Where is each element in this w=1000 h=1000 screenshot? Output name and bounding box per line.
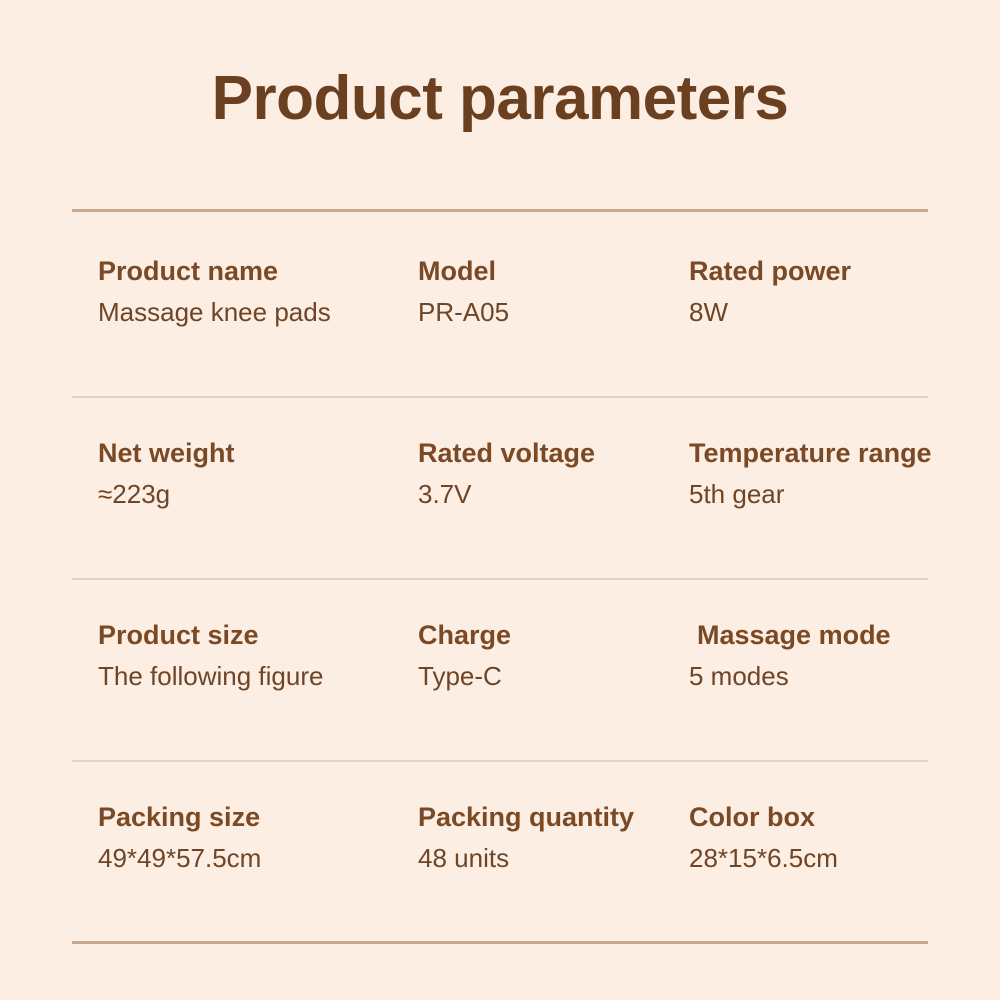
parameter-label: Net weight bbox=[98, 440, 408, 467]
parameter-label: Rated power bbox=[689, 258, 989, 285]
table-row: Product size The following figure Charge… bbox=[0, 622, 1000, 732]
parameter-value: Massage knee pads bbox=[98, 299, 408, 325]
parameter-cell: Packing quantity 48 units bbox=[418, 804, 680, 871]
parameter-label: Color box bbox=[689, 804, 989, 831]
parameter-cell: Packing size 49*49*57.5cm bbox=[98, 804, 408, 871]
parameter-cell: Rated voltage 3.7V bbox=[418, 440, 680, 507]
parameter-value: 49*49*57.5cm bbox=[98, 845, 408, 871]
parameter-value: 48 units bbox=[418, 845, 680, 871]
parameter-label: Rated voltage bbox=[418, 440, 680, 467]
divider-row-2 bbox=[72, 578, 928, 580]
parameter-label: Model bbox=[418, 258, 680, 285]
parameter-cell: Color box 28*15*6.5cm bbox=[689, 804, 989, 871]
table-row: Net weight ≈223g Rated voltage 3.7V Temp… bbox=[0, 440, 1000, 550]
product-parameters-page: Product parameters Product name Massage … bbox=[0, 0, 1000, 1000]
parameter-label: Temperature range bbox=[689, 440, 989, 467]
divider-bottom bbox=[72, 941, 928, 944]
parameter-cell: Massage mode 5 modes bbox=[689, 622, 989, 689]
parameter-label: Packing quantity bbox=[418, 804, 680, 831]
parameter-cell: Rated power 8W bbox=[689, 258, 989, 325]
parameter-label: Product size bbox=[98, 622, 408, 649]
parameter-cell: Net weight ≈223g bbox=[98, 440, 408, 507]
parameter-cell: Temperature range 5th gear bbox=[689, 440, 989, 507]
parameter-cell: Model PR-A05 bbox=[418, 258, 680, 325]
parameter-value: PR-A05 bbox=[418, 299, 680, 325]
parameter-value: 28*15*6.5cm bbox=[689, 845, 989, 871]
parameter-label: Product name bbox=[98, 258, 408, 285]
parameter-label: Charge bbox=[418, 622, 680, 649]
parameter-value: The following figure bbox=[98, 663, 408, 689]
table-row: Product name Massage knee pads Model PR-… bbox=[0, 258, 1000, 368]
parameter-value: 3.7V bbox=[418, 481, 680, 507]
parameter-value: 5 modes bbox=[689, 663, 989, 689]
parameter-label: Packing size bbox=[98, 804, 408, 831]
divider-top bbox=[72, 209, 928, 212]
table-row: Packing size 49*49*57.5cm Packing quanti… bbox=[0, 804, 1000, 914]
divider-row-1 bbox=[72, 396, 928, 398]
parameter-cell: Charge Type-C bbox=[418, 622, 680, 689]
parameter-value: 5th gear bbox=[689, 481, 989, 507]
parameter-cell: Product name Massage knee pads bbox=[98, 258, 408, 325]
parameter-value: Type-C bbox=[418, 663, 680, 689]
divider-row-3 bbox=[72, 760, 928, 762]
parameter-cell: Product size The following figure bbox=[98, 622, 408, 689]
parameter-value: 8W bbox=[689, 299, 989, 325]
page-title: Product parameters bbox=[0, 66, 1000, 131]
parameter-value: ≈223g bbox=[98, 481, 408, 507]
parameter-label: Massage mode bbox=[689, 622, 989, 649]
